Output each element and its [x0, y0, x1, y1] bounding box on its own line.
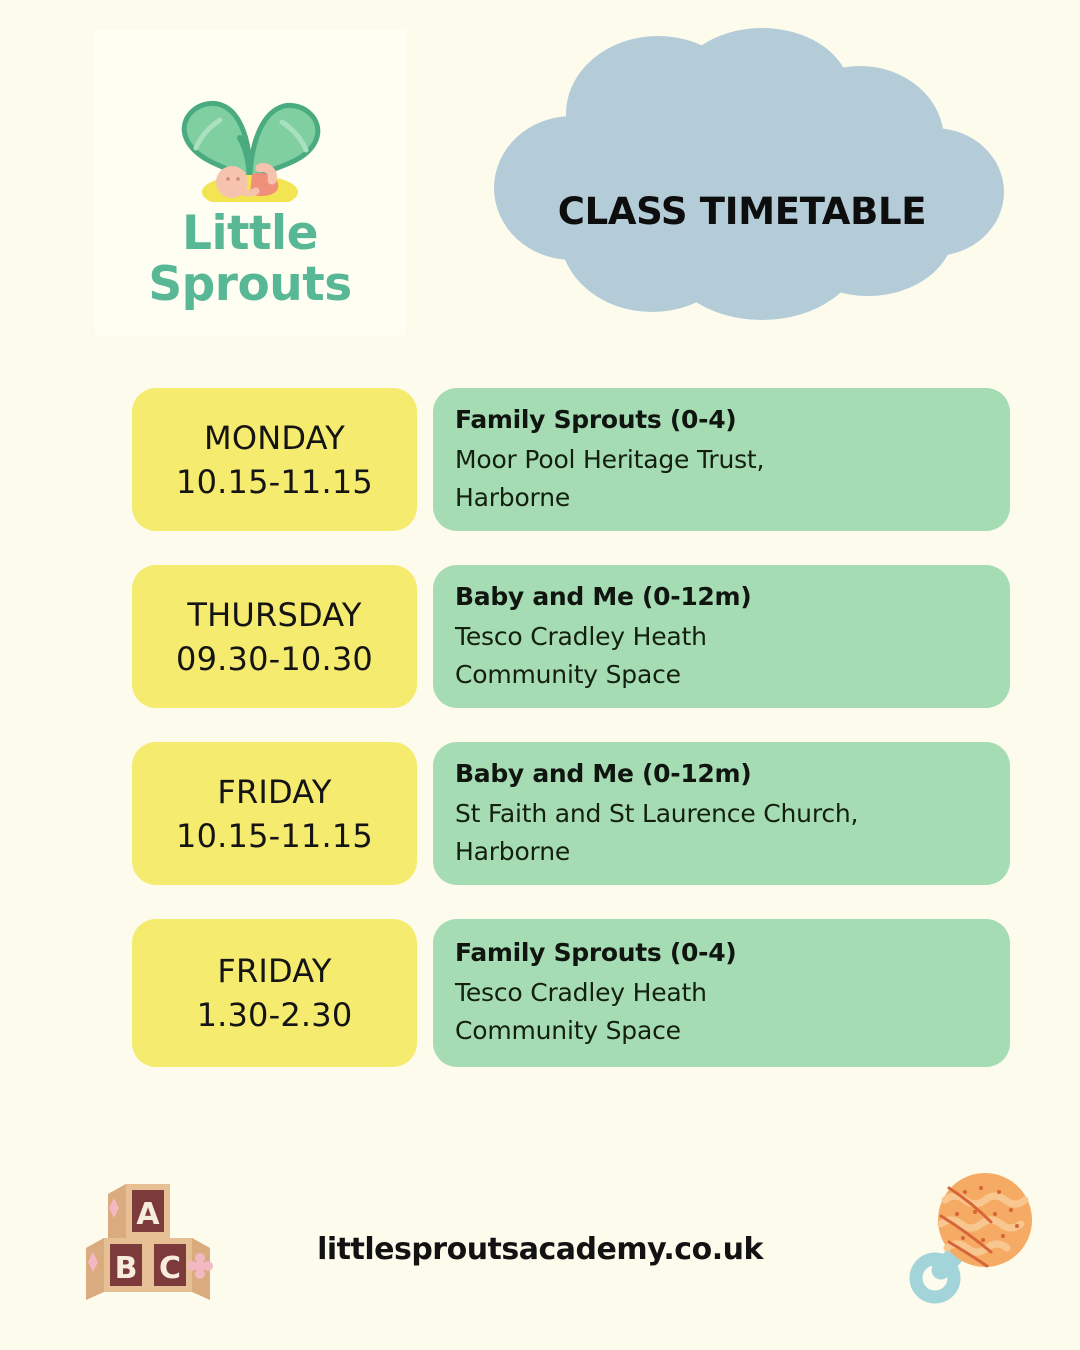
class-venue-line-1: Tesco Cradley Heath [455, 974, 984, 1012]
row-gap [417, 742, 433, 885]
cloud-header: CLASS TIMETABLE [462, 22, 1022, 337]
day-card: FRIDAY 10.15-11.15 [132, 742, 417, 885]
class-card: Family Sprouts (0-4) Tesco Cradley Heath… [433, 919, 1010, 1067]
table-row: THURSDAY 09.30-10.30 Baby and Me (0-12m)… [132, 565, 1010, 708]
table-row: FRIDAY 10.15-11.15 Baby and Me (0-12m) S… [132, 742, 1010, 885]
page-title: CLASS TIMETABLE [462, 190, 1022, 233]
day-card: FRIDAY 1.30-2.30 [132, 919, 417, 1067]
row-gap [417, 388, 433, 531]
day-time: 1.30-2.30 [197, 993, 353, 1037]
brand-wordmark: Little Sprouts [95, 208, 405, 310]
day-time: 10.15-11.15 [176, 814, 373, 858]
row-gap [417, 565, 433, 708]
class-venue-line-1: Moor Pool Heritage Trust, [455, 441, 984, 479]
class-venue-line-2: Harborne [455, 479, 984, 517]
class-title: Baby and Me (0-12m) [455, 580, 984, 614]
brand-line-1: Little [95, 208, 405, 259]
class-title: Family Sprouts (0-4) [455, 936, 984, 970]
class-title: Baby and Me (0-12m) [455, 757, 984, 791]
logo-panel: Little Sprouts [95, 30, 405, 335]
day-name: THURSDAY [187, 593, 361, 637]
day-name: MONDAY [204, 416, 345, 460]
day-time: 09.30-10.30 [176, 637, 373, 681]
day-name: FRIDAY [217, 770, 331, 814]
table-row: MONDAY 10.15-11.15 Family Sprouts (0-4) … [132, 388, 1010, 531]
row-gap [417, 919, 433, 1067]
day-name: FRIDAY [217, 949, 331, 993]
class-venue-line-2: Harborne [455, 833, 984, 871]
class-card: Baby and Me (0-12m) Tesco Cradley Heath … [433, 565, 1010, 708]
day-card: MONDAY 10.15-11.15 [132, 388, 417, 531]
brand-line-2: Sprouts [95, 259, 405, 310]
class-venue-line-1: Tesco Cradley Heath [455, 618, 984, 656]
sprout-baby-logo [160, 82, 340, 202]
class-title: Family Sprouts (0-4) [455, 403, 984, 437]
poster-canvas: Little Sprouts CLASS TIMETABLE MONDAY [0, 0, 1080, 1350]
svg-text:A: A [136, 1197, 160, 1232]
class-card: Baby and Me (0-12m) St Faith and St Laur… [433, 742, 1010, 885]
class-venue-line-2: Community Space [455, 1012, 984, 1050]
class-schedule: MONDAY 10.15-11.15 Family Sprouts (0-4) … [132, 388, 1010, 1067]
cloud-shape-icon [462, 22, 1022, 337]
class-venue-line-1: St Faith and St Laurence Church, [455, 795, 984, 833]
class-venue-line-2: Community Space [455, 656, 984, 694]
day-time: 10.15-11.15 [176, 460, 373, 504]
baby-rattle-icon [905, 1158, 1045, 1308]
class-card: Family Sprouts (0-4) Moor Pool Heritage … [433, 388, 1010, 531]
table-row: FRIDAY 1.30-2.30 Family Sprouts (0-4) Te… [132, 919, 1010, 1067]
day-card: THURSDAY 09.30-10.30 [132, 565, 417, 708]
